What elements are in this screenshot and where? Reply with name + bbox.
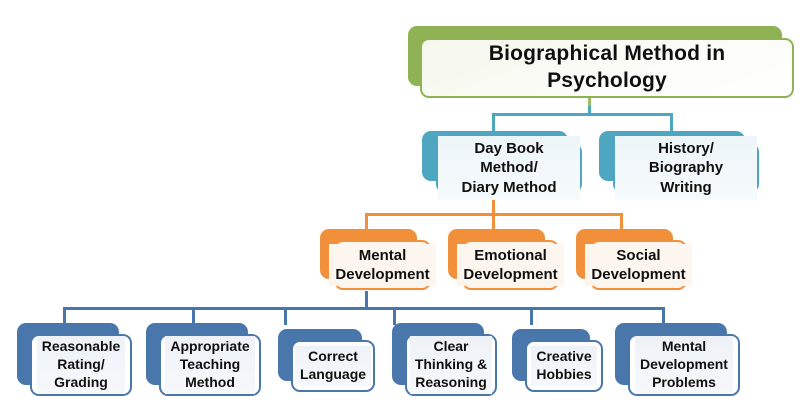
node-day-book-method-body[interactable]: Day Book Method/ Diary Method xyxy=(436,143,582,193)
node-clear-thinking-reasoning-body[interactable]: Clear Thinking & Reasoning xyxy=(405,334,497,396)
connector-level4-drop-3 xyxy=(284,307,287,325)
org-chart-diagram: Biographical Method in Psychology Day Bo… xyxy=(0,0,806,419)
node-creative-hobbies[interactable]: Creative Hobbies xyxy=(512,329,590,381)
node-mental-development-problems[interactable]: Mental Development Problems xyxy=(615,323,727,385)
node-appropriate-teaching-method-label: Appropriate Teaching Method xyxy=(165,336,254,394)
node-social-development-label: Social Development xyxy=(585,244,691,286)
node-creative-hobbies-label: Creative Hobbies xyxy=(531,346,596,386)
node-reasonable-rating-grading-label: Reasonable Rating/ Grading xyxy=(37,336,126,394)
connector-level4-bar xyxy=(63,307,665,310)
node-social-development[interactable]: Social Development xyxy=(576,229,673,279)
node-history-biography-writing-label: History/ Biography Writing xyxy=(615,136,757,200)
node-mental-development-body[interactable]: Mental Development xyxy=(334,240,431,290)
node-mental-development-problems-body[interactable]: Mental Development Problems xyxy=(628,334,740,396)
node-mental-development-label: Mental Development xyxy=(329,244,435,286)
node-reasonable-rating-grading-body[interactable]: Reasonable Rating/ Grading xyxy=(30,334,132,396)
node-day-book-method-label: Day Book Method/ Diary Method xyxy=(438,136,580,200)
node-history-biography-writing[interactable]: History/ Biography Writing xyxy=(599,131,745,181)
node-clear-thinking-reasoning[interactable]: Clear Thinking & Reasoning xyxy=(392,323,484,385)
node-root-label: Biographical Method in Psychology xyxy=(422,41,792,95)
node-appropriate-teaching-method-body[interactable]: Appropriate Teaching Method xyxy=(159,334,261,396)
node-emotional-development-body[interactable]: Emotional Development xyxy=(462,240,559,290)
connector-level4-drop-5 xyxy=(530,307,533,325)
node-mental-development-problems-label: Mental Development Problems xyxy=(635,336,733,394)
node-reasonable-rating-grading[interactable]: Reasonable Rating/ Grading xyxy=(17,323,119,385)
node-clear-thinking-reasoning-label: Clear Thinking & Reasoning xyxy=(410,336,492,394)
node-correct-language[interactable]: Correct Language xyxy=(278,329,362,381)
connector-level2-bar xyxy=(492,113,673,116)
node-day-book-method[interactable]: Day Book Method/ Diary Method xyxy=(422,131,568,181)
connector-root-to-level2-bar xyxy=(588,106,591,115)
node-correct-language-label: Correct Language xyxy=(295,346,371,386)
node-social-development-body[interactable]: Social Development xyxy=(590,240,687,290)
node-correct-language-body[interactable]: Correct Language xyxy=(291,340,375,392)
node-mental-development[interactable]: Mental Development xyxy=(320,229,417,279)
node-root[interactable]: Biographical Method in Psychology xyxy=(408,26,782,86)
node-history-biography-writing-body[interactable]: History/ Biography Writing xyxy=(613,143,759,193)
node-emotional-development[interactable]: Emotional Development xyxy=(448,229,545,279)
node-creative-hobbies-body[interactable]: Creative Hobbies xyxy=(525,340,603,392)
node-appropriate-teaching-method[interactable]: Appropriate Teaching Method xyxy=(146,323,248,385)
node-root-body[interactable]: Biographical Method in Psychology xyxy=(420,38,794,98)
node-emotional-development-label: Emotional Development xyxy=(457,244,563,286)
